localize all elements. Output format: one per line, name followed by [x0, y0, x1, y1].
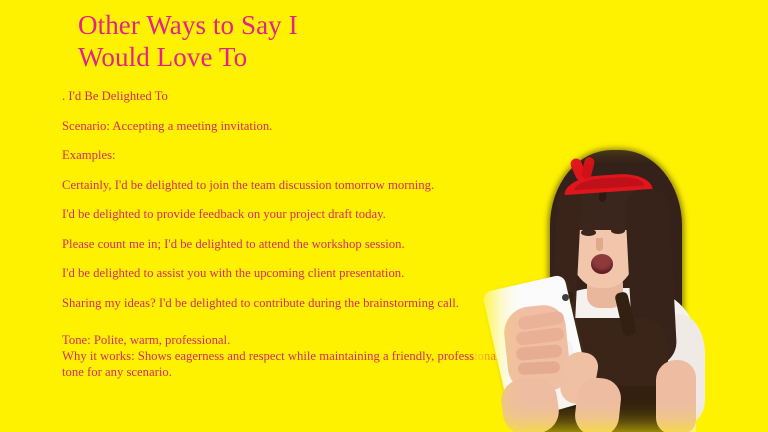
heading-line: . I'd Be Delighted To [62, 88, 522, 104]
open-mouth [591, 254, 613, 274]
tone-line: Tone: Polite, warm, professional. [62, 332, 522, 348]
finger-4 [518, 361, 561, 375]
scenario-line: Scenario: Accepting a meeting invitation… [62, 118, 522, 134]
forearm-right [573, 376, 623, 432]
body-text-block: . I'd Be Delighted To Scenario: Acceptin… [62, 88, 522, 380]
nose [596, 238, 603, 251]
example-item-3: Please count me in; I'd be delighted to … [62, 236, 522, 252]
woman-with-tablet-photo [488, 128, 768, 432]
example-item-4: I'd be delighted to assist you with the … [62, 265, 522, 281]
why-it-works-line: Why it works: Shows eagerness and respec… [62, 348, 522, 380]
block-gap [62, 324, 522, 332]
example-item-1: Certainly, I'd be delighted to join the … [62, 177, 522, 193]
arm-far [656, 360, 696, 432]
page-title: Other Ways to Say I Would Love To [78, 10, 498, 74]
slide-canvas: Other Ways to Say I Would Love To . I'd … [0, 0, 768, 432]
examples-label: Examples: [62, 147, 522, 163]
example-item-2: I'd be delighted to provide feedback on … [62, 206, 522, 222]
example-item-5: Sharing my ideas? I'd be delighted to co… [62, 295, 522, 311]
